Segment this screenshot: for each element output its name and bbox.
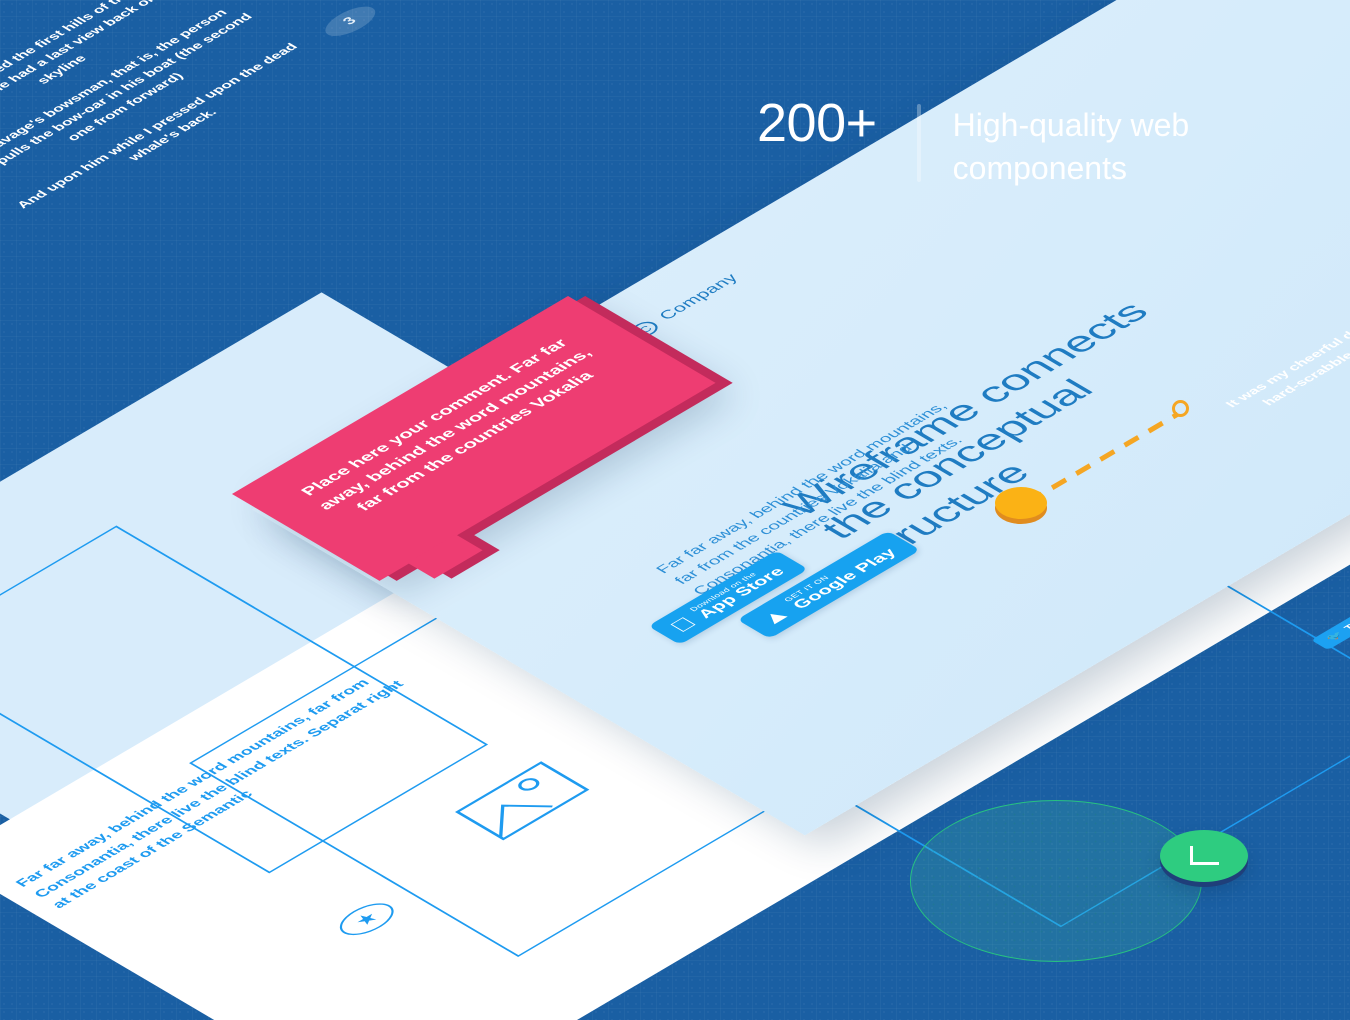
clock-icon (1190, 846, 1219, 865)
orange-pin-marker[interactable] (995, 487, 1047, 519)
green-action-button[interactable] (1160, 830, 1248, 882)
annotation-badge: 3 (317, 1, 384, 40)
component-count: 200+ (757, 96, 877, 150)
header-stat: 200+ High-quality web components (757, 96, 1233, 189)
apple-icon:  (665, 614, 700, 635)
presentation-slide: ★ Far far away, behind the word mountain… (0, 0, 1350, 1020)
twitter-bird-icon: 🐦 (1323, 629, 1346, 642)
left-annotation-list: When she reached the first hills of the … (0, 0, 451, 233)
green-highlight-ellipse (910, 800, 1202, 962)
google-play-icon: ▲ (754, 605, 795, 629)
twitter-share-button[interactable]: 🐦 Tweet (1311, 602, 1350, 650)
header-title: High-quality web components (953, 104, 1233, 189)
header-divider (917, 104, 921, 182)
orange-ring-marker (1172, 400, 1189, 417)
twitter-label: Tweet (1341, 610, 1350, 633)
annotation-badge: 2 (253, 0, 320, 3)
